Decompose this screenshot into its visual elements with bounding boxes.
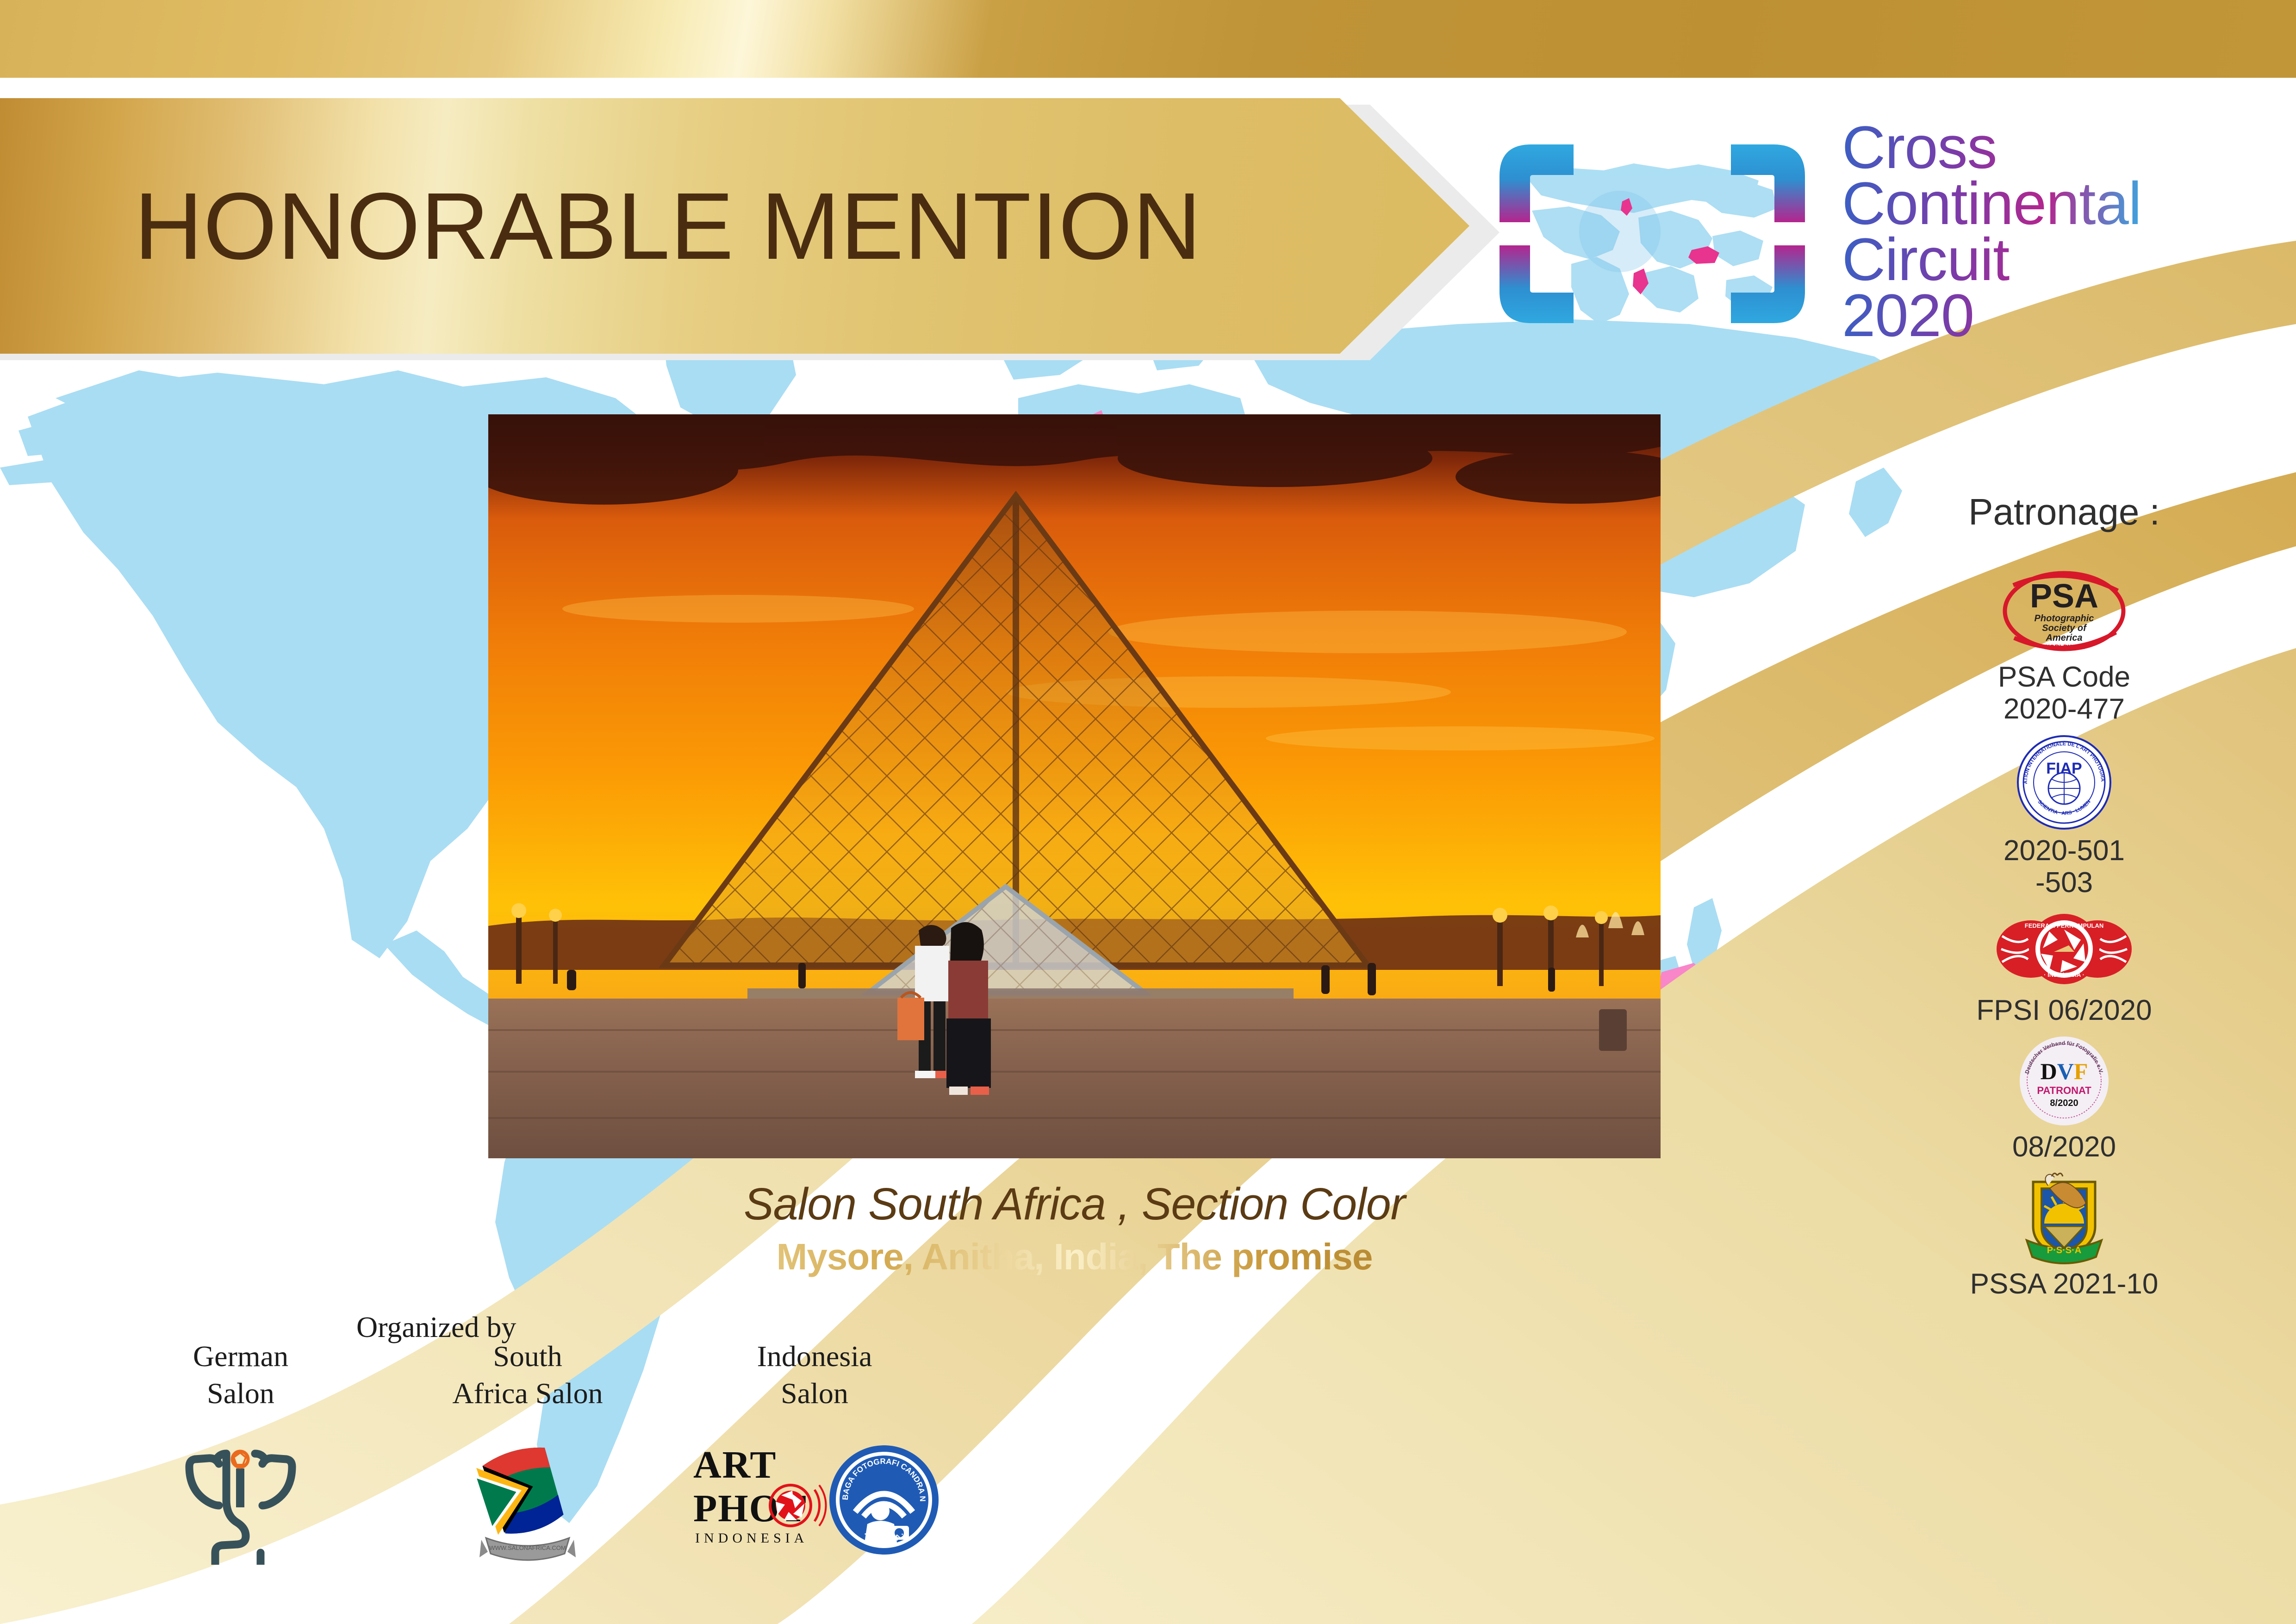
svg-text:DVF: DVF [2041,1058,2088,1084]
brand-line-3: Circuit [1842,231,2141,287]
organizer-german-salon: German Salon [97,1338,384,1565]
svg-text:INDONESIA: INDONESIA [695,1530,808,1546]
svg-text:Photographic: Photographic [2035,613,2094,624]
award-photograph [488,414,1661,1158]
svg-text:P·S·S·A: P·S·S·A [2047,1245,2081,1255]
svg-text:FIAP: FIAP [2046,760,2082,777]
svg-text:8/2020: 8/2020 [2050,1098,2078,1108]
trophy-logo [183,1426,299,1565]
fpsi-logo: FEDERASI PERKUMPULAN · INDONESIA · [1921,907,2208,991]
organizer-name: German Salon [193,1338,288,1412]
cross-continental-circuit-logo: Cross Continental Circuit 2020 [1481,106,2240,356]
organizer-indonesia-salon: Indonesia Salon ART PHOT INDONES [671,1338,958,1565]
svg-text:Society of: Society of [2042,623,2087,633]
fpsi-code: FPSI 06/2020 [1921,994,2208,1026]
south-africa-flag-logo: WWW.SALONAFRICA.COM [467,1426,588,1565]
svg-text:FEDERASI PERKUMPULAN: FEDERASI PERKUMPULAN [2025,922,2103,929]
svg-text:America: America [2046,633,2083,643]
patronage-item-fiap: FIAP FEDERATION INTERNATIONALE DE L'ART … [1921,734,2208,899]
organizer-south-africa-salon: South Africa Salon WWW.SALONAFRICA.COM [384,1338,671,1565]
organizer-name: Indonesia Salon [757,1338,872,1412]
caption-salon-section: Salon South Africa , Section Color [488,1178,1661,1230]
top-gold-bar [0,0,2296,78]
organizer-name: South Africa Salon [452,1338,603,1412]
patronage-column: Patronage : PSA Photographic Society of … [1921,491,2208,1308]
patronage-item-psa: PSA Photographic Society of America WORL… [1921,565,2208,725]
dvf-code: 08/2020 [1921,1131,2208,1163]
patronage-item-dvf: DVF PATRONAT 8/2020 Deutscher Verband fü… [1921,1035,2208,1163]
organizers-row: German Salon South Africa Salon [97,1338,958,1597]
fiap-code: 2020-501 -503 [1921,835,2208,899]
brand-wordmark: Cross Continental Circuit 2020 [1842,119,2141,344]
fiap-logo: FIAP FEDERATION INTERNATIONALE DE L'ART … [1921,734,2208,831]
svg-text:WORLDWIDE: WORLDWIDE [2043,643,2084,650]
svg-text:PATRONAT: PATRONAT [2037,1085,2091,1096]
caption-author-title: Mysore, Anitha, India, The promise [488,1234,1661,1280]
photo-caption: Salon South Africa , Section Color Mysor… [488,1178,1661,1280]
patronage-item-fpsi: FEDERASI PERKUMPULAN · INDONESIA · FPSI … [1921,907,2208,1026]
patronage-item-pssa: P·S·S·A PSSA 2021-10 [1921,1172,2208,1300]
svg-text:· INDONESIA ·: · INDONESIA · [2044,971,2084,978]
pssa-logo: P·S·S·A [1921,1172,2208,1264]
camera-frame-globe-icon [1481,116,1823,347]
psa-logo: PSA Photographic Society of America WORL… [1921,565,2208,657]
brand-line-4: 2020 [1842,287,2141,344]
award-banner: HONORABLE MENTION [0,98,1469,354]
brand-line-2: Continental [1842,175,2141,231]
svg-text:ART: ART [693,1443,777,1487]
indonesia-logos-group: ART PHOT INDONESIA [685,1426,944,1565]
svg-text:PSA: PSA [2030,578,2098,615]
svg-text:WWW.SALONAFRICA.COM: WWW.SALONAFRICA.COM [489,1544,566,1551]
page-title: HONORABLE MENTION [134,179,1201,274]
patronage-heading: Patronage : [1921,491,2208,533]
pssa-code: PSSA 2021-10 [1921,1268,2208,1300]
psa-code: PSA Code 2020-477 [1921,661,2208,725]
dvf-logo: DVF PATRONAT 8/2020 Deutscher Verband fü… [1921,1035,2208,1127]
brand-line-1: Cross [1842,119,2141,175]
